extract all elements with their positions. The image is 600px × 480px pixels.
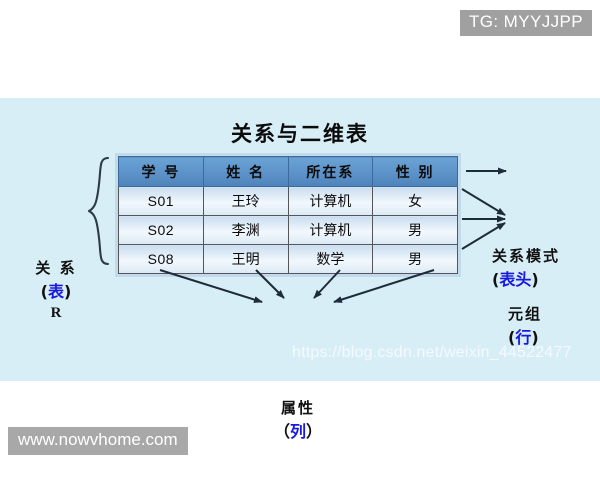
table-header-cell-gender: 性 别 (373, 157, 458, 187)
label-relation-note: R (20, 303, 92, 325)
arrow-to-attribute-col2 (256, 270, 284, 298)
label-tuple-main: 元组 (508, 304, 594, 326)
label-schema: 关系模式 (表头) (492, 246, 596, 291)
page-title: 关系与二维表 (0, 118, 600, 148)
table-header-cell-id: 学 号 (119, 157, 204, 187)
paren-close: ） (306, 422, 322, 441)
arrow-to-attribute-col1 (160, 270, 262, 302)
arrow-to-attribute-col4 (334, 270, 434, 302)
paren-close: ) (64, 282, 71, 301)
table-header-row: 学 号 姓 名 所在系 性 别 (119, 157, 458, 187)
table-cell: S02 (119, 216, 204, 245)
relation-table: 学 号 姓 名 所在系 性 别 S01 王玲 计算机 女 S02 李渊 计算机 … (118, 156, 458, 274)
label-relation-sub: (表) (20, 280, 92, 303)
label-schema-sub: (表头) (492, 268, 596, 291)
tg-watermark-badge: TG: MYYJJPP (460, 10, 592, 36)
paren-close: ) (531, 270, 538, 289)
left-brace (89, 158, 108, 264)
table-cell: S01 (119, 187, 204, 216)
table-cell: 王玲 (203, 187, 288, 216)
csdn-blog-watermark: https://blog.csdn.net/weixin_44522477 (292, 344, 572, 362)
table-cell: 男 (373, 245, 458, 274)
table-row: S02 李渊 计算机 男 (119, 216, 458, 245)
site-watermark-band: www.nowvhome.com (8, 427, 188, 455)
table-header-cell-dept: 所在系 (288, 157, 373, 187)
table-row: S08 王明 数学 男 (119, 245, 458, 274)
label-relation-main: 关 系 (20, 258, 92, 280)
table-cell: 男 (373, 216, 458, 245)
arrow-to-tuple-row1 (462, 189, 505, 215)
table-cell: 计算机 (288, 216, 373, 245)
table-cell: 李渊 (203, 216, 288, 245)
label-attribute-main: 属性 (240, 398, 356, 420)
label-schema-main: 关系模式 (492, 246, 596, 268)
label-attribute: 属性 （列） (240, 398, 356, 443)
table-cell: S08 (119, 245, 204, 274)
label-relation-highlight: 表 (48, 282, 64, 301)
label-attribute-sub: （列） (240, 420, 356, 443)
paren-open: ( (41, 282, 48, 301)
label-tuple: 元组 (行) (508, 304, 594, 349)
table-header-cell-name: 姓 名 (203, 157, 288, 187)
diagram-panel: 关系与二维表 学 号 姓 名 所在系 性 别 S01 王玲 计算机 女 S02 … (0, 98, 600, 381)
table-cell: 女 (373, 187, 458, 216)
arrow-to-attribute-col3 (314, 270, 340, 298)
table-row: S01 王玲 计算机 女 (119, 187, 458, 216)
table-cell: 计算机 (288, 187, 373, 216)
label-relation: 关 系 (表) R (20, 258, 92, 325)
table-cell: 王明 (203, 245, 288, 274)
table-cell: 数学 (288, 245, 373, 274)
label-schema-highlight: 表头 (499, 270, 531, 289)
label-attribute-highlight: 列 (290, 422, 306, 441)
paren-open: （ (274, 422, 290, 441)
